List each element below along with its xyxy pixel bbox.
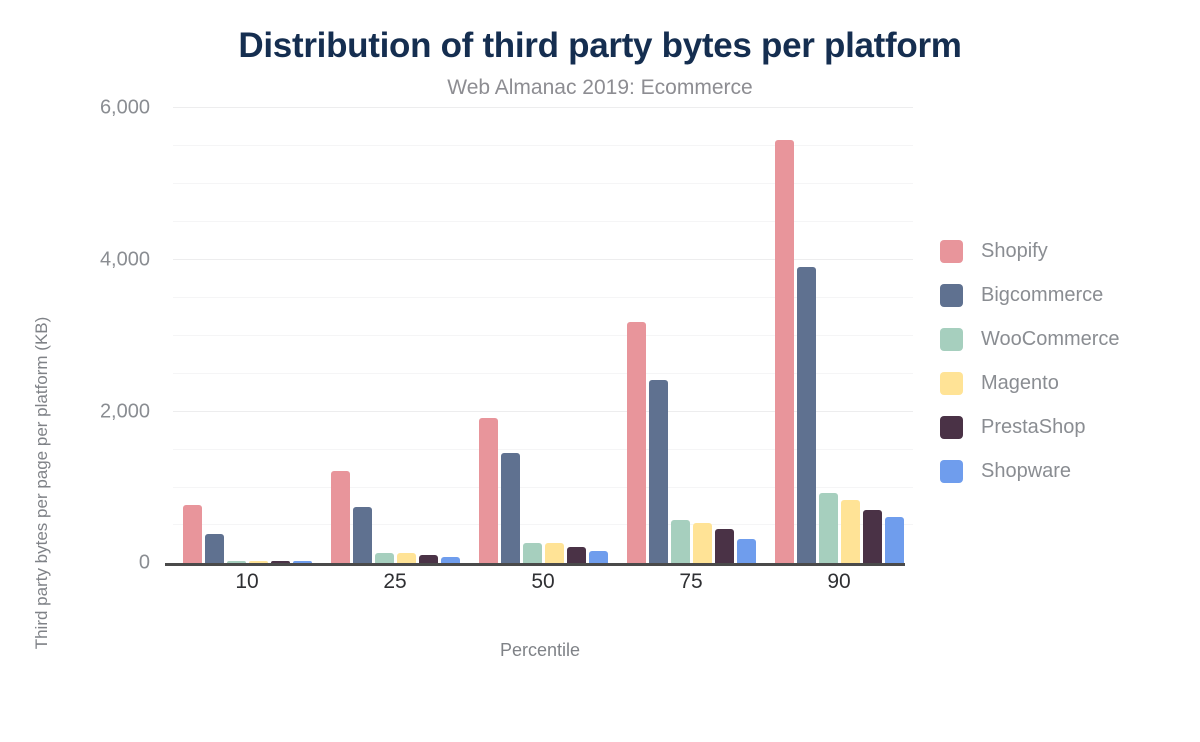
chart-body: Third party bytes per page per platform … <box>0 100 1200 742</box>
bar-groups <box>173 108 913 563</box>
bar-group <box>765 108 913 563</box>
bar-group <box>617 108 765 563</box>
x-axis-title: Percentile <box>175 640 905 661</box>
chart-container: Distribution of third party bytes per pl… <box>0 0 1200 742</box>
x-axis-tick-label: 10 <box>173 570 321 594</box>
x-axis-tick-label: 90 <box>765 570 913 594</box>
bar[interactable] <box>627 322 646 563</box>
legend-item[interactable]: Shopify <box>940 240 1120 263</box>
bar-group <box>173 108 321 563</box>
bar[interactable] <box>397 553 416 564</box>
bar[interactable] <box>841 500 860 563</box>
legend-item-label: WooCommerce <box>981 328 1120 351</box>
bar[interactable] <box>501 453 520 564</box>
legend-swatch-icon <box>940 416 963 439</box>
chart-header: Distribution of third party bytes per pl… <box>0 0 1200 100</box>
legend-item[interactable]: Shopware <box>940 460 1120 483</box>
bar[interactable] <box>523 543 542 563</box>
legend-swatch-icon <box>940 284 963 307</box>
legend-item-label: Shopware <box>981 460 1071 483</box>
legend-swatch-icon <box>940 372 963 395</box>
bar[interactable] <box>479 418 498 564</box>
x-axis-tick-label: 25 <box>321 570 469 594</box>
bar[interactable] <box>419 555 438 564</box>
legend-swatch-icon <box>940 240 963 263</box>
bar[interactable] <box>775 140 794 563</box>
y-axis-title: Third party bytes per page per platform … <box>28 248 56 718</box>
legend-swatch-icon <box>940 328 963 351</box>
bar[interactable] <box>863 510 882 563</box>
bar[interactable] <box>589 551 608 563</box>
bar[interactable] <box>715 529 734 563</box>
x-axis-line <box>165 563 905 566</box>
bar[interactable] <box>331 471 350 564</box>
y-axis-tick-labels: 02,0004,0006,000 <box>68 108 160 563</box>
legend-item-label: PrestaShop <box>981 416 1086 439</box>
plot-area: 02,0004,0006,000 1025507590 <box>68 108 913 608</box>
legend-item[interactable]: WooCommerce <box>940 328 1120 351</box>
x-axis-tick-label: 50 <box>469 570 617 594</box>
legend-swatch-icon <box>940 460 963 483</box>
legend-item[interactable]: Bigcommerce <box>940 284 1120 307</box>
legend: ShopifyBigcommerceWooCommerceMagentoPres… <box>940 240 1120 483</box>
legend-item-label: Magento <box>981 372 1059 395</box>
bar[interactable] <box>545 543 564 564</box>
y-axis-tick-label: 6,000 <box>100 97 150 120</box>
x-axis-tick-label: 75 <box>617 570 765 594</box>
bar[interactable] <box>885 517 904 564</box>
y-axis-tick-label: 0 <box>139 552 150 575</box>
legend-item[interactable]: Magento <box>940 372 1120 395</box>
bar[interactable] <box>671 520 690 563</box>
bar[interactable] <box>797 267 816 563</box>
y-axis-tick-label: 4,000 <box>100 249 150 272</box>
bar[interactable] <box>205 534 224 563</box>
bar[interactable] <box>649 380 668 564</box>
bar[interactable] <box>183 505 202 563</box>
bar[interactable] <box>353 507 372 563</box>
bar-group <box>469 108 617 563</box>
y-axis-tick-label: 2,000 <box>100 400 150 423</box>
x-axis-tick-labels: 1025507590 <box>173 570 913 594</box>
bar-group <box>321 108 469 563</box>
legend-item[interactable]: PrestaShop <box>940 416 1120 439</box>
chart-title: Distribution of third party bytes per pl… <box>0 26 1200 66</box>
bar[interactable] <box>819 493 838 564</box>
bar[interactable] <box>375 553 394 564</box>
bar[interactable] <box>693 523 712 563</box>
bar[interactable] <box>737 539 756 563</box>
plot-canvas <box>173 108 913 563</box>
chart-subtitle: Web Almanac 2019: Ecommerce <box>0 76 1200 100</box>
legend-item-label: Bigcommerce <box>981 284 1103 307</box>
bar[interactable] <box>567 547 586 564</box>
legend-item-label: Shopify <box>981 240 1048 263</box>
